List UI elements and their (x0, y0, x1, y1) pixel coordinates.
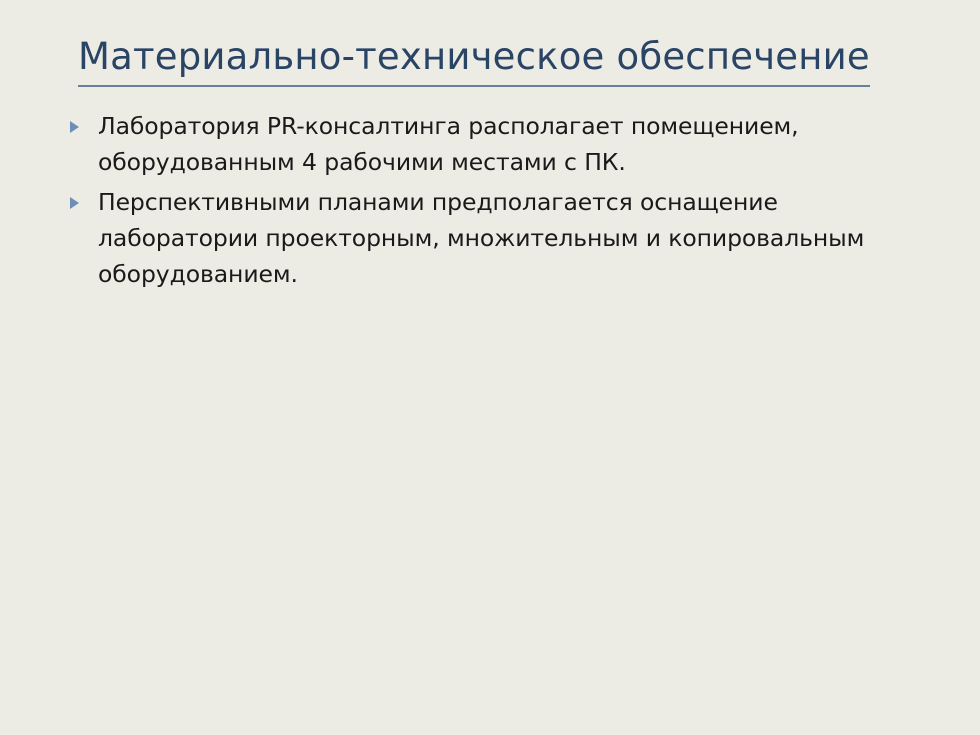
slide-title-container: Материально-техническое обеспечение (78, 34, 940, 87)
list-item: Лаборатория PR-консалтинга располагает п… (66, 108, 888, 180)
list-item-text: Перспективными планами предполагается ос… (98, 184, 888, 292)
triangle-right-icon (70, 197, 79, 209)
list-item-text: Лаборатория PR-консалтинга располагает п… (98, 108, 888, 180)
list-item: Перспективными планами предполагается ос… (66, 184, 888, 292)
page-title: Материально-техническое обеспечение (78, 34, 870, 87)
presentation-slide: Материально-техническое обеспечение Лабо… (0, 0, 980, 735)
triangle-right-icon (70, 121, 79, 133)
bullet-list: Лаборатория PR-консалтинга располагает п… (66, 108, 920, 292)
